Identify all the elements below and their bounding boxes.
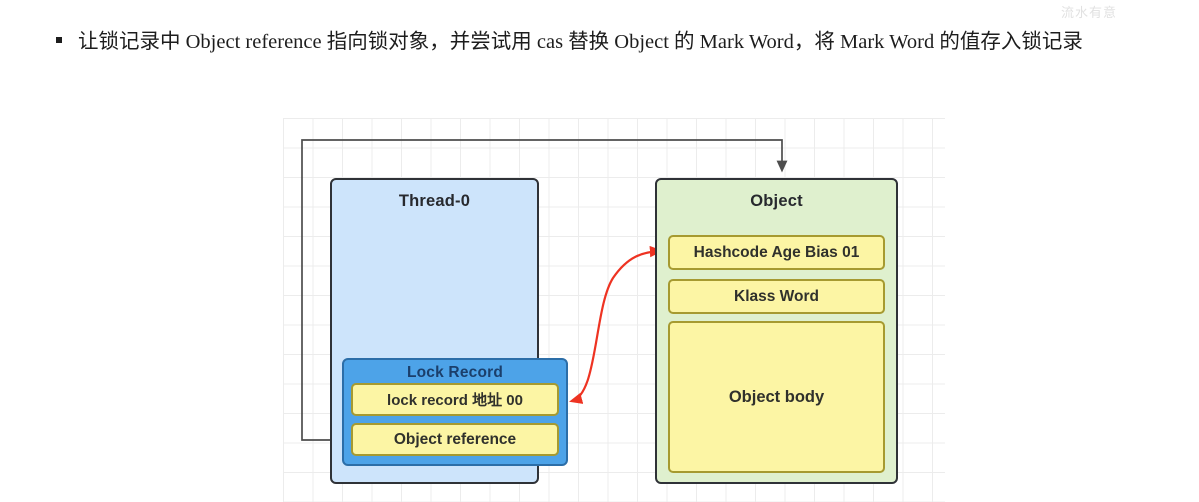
object-box-title: Object	[750, 192, 803, 211]
slot-object-body[interactable]: Object body	[668, 321, 885, 473]
slot-klass-word[interactable]: Klass Word	[668, 279, 885, 314]
bullet-paragraph-text: 让锁记录中 Object reference 指向锁对象，并尝试用 cas 替换…	[78, 26, 1176, 59]
slot-object-reference[interactable]: Object reference	[351, 423, 559, 456]
thread-box-title: Thread-0	[399, 192, 470, 211]
bullet-paragraph: 让锁记录中 Object reference 指向锁对象，并尝试用 cas 替换…	[56, 26, 1176, 59]
slot-lock-record-address[interactable]: lock record 地址 00	[351, 383, 559, 416]
diagram-canvas: Thread-0 Object Hashcode Age Bias 01 Kla…	[283, 118, 945, 502]
connector-cas-swap-markword	[572, 251, 660, 401]
lock-record-title: Lock Record	[407, 364, 503, 382]
watermark-text: 流水有意	[1061, 2, 1191, 24]
slot-mark-word[interactable]: Hashcode Age Bias 01	[668, 235, 885, 270]
square-bullet-icon	[56, 37, 62, 43]
